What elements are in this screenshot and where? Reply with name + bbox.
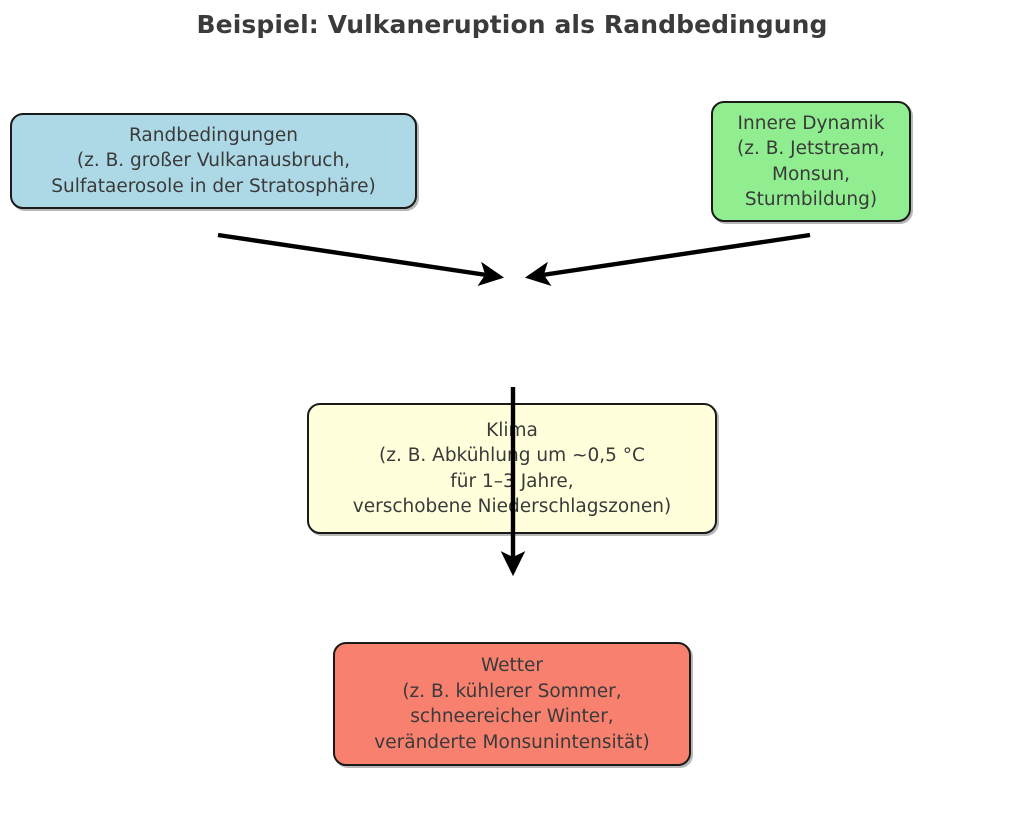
internal-dynamics-node[interactable]: Innere Dynamik (z. B. Jetstream, Monsun,… xyxy=(711,101,911,222)
weather-node[interactable]: Wetter (z. B. kühlerer Sommer, schneerei… xyxy=(333,642,691,766)
arrow-internal-dynamics-to-climate xyxy=(529,235,810,277)
climate-node-label: Klima (z. B. Abkühlung um ~0,5 °C für 1–… xyxy=(347,418,677,520)
boundary-conditions-node[interactable]: Randbedingungen (z. B. großer Vulkanausb… xyxy=(10,113,417,209)
boundary-conditions-node-label: Randbedingungen (z. B. großer Vulkanausb… xyxy=(45,123,381,200)
weather-node-label: Wetter (z. B. kühlerer Sommer, schneerei… xyxy=(368,653,655,755)
page-title: Beispiel: Vulkaneruption als Randbedingu… xyxy=(0,8,1024,42)
diagram-canvas: Beispiel: Vulkaneruption als Randbedingu… xyxy=(0,0,1024,831)
internal-dynamics-node-label: Innere Dynamik (z. B. Jetstream, Monsun,… xyxy=(731,111,891,213)
climate-node[interactable]: Klima (z. B. Abkühlung um ~0,5 °C für 1–… xyxy=(307,403,717,534)
arrow-boundary-conditions-to-climate xyxy=(218,235,500,277)
